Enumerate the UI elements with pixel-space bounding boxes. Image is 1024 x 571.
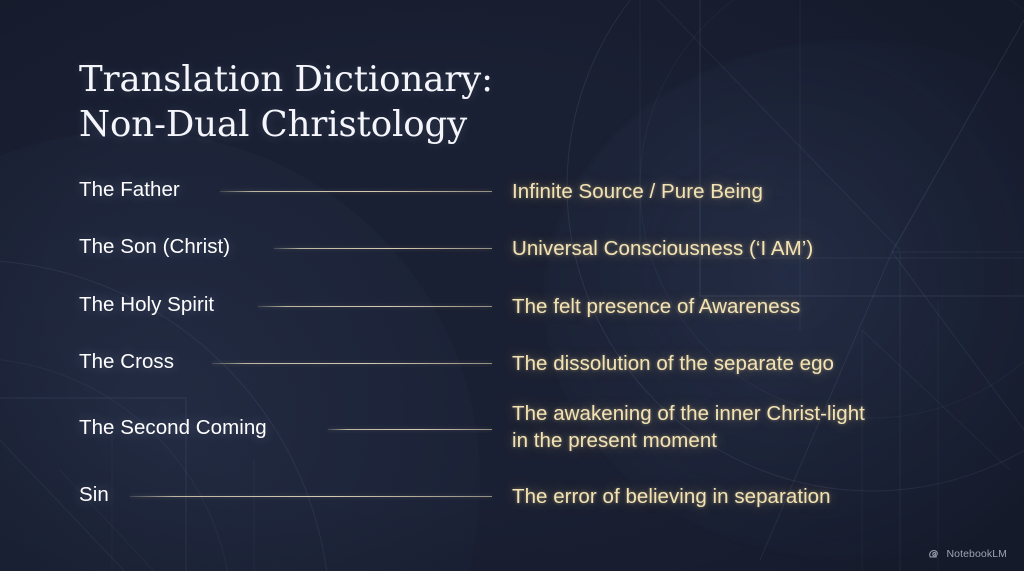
connector-line [212, 363, 492, 364]
term-label: The Second Coming [79, 416, 267, 440]
term-label: The Holy Spirit [79, 293, 214, 317]
term-label: The Cross [79, 350, 174, 374]
connector-line [130, 496, 492, 497]
notebooklm-logo-icon [928, 547, 941, 560]
term-label: Sin [79, 483, 109, 507]
meaning-label: Universal Consciousness (‘I AM’) [512, 235, 813, 262]
notebooklm-watermark: NotebookLM [928, 547, 1007, 560]
meaning-label: The error of believing in separation [512, 483, 831, 510]
meaning-label: The dissolution of the separate ego [512, 350, 834, 377]
term-label: The Father [79, 178, 180, 202]
dictionary-list: The Father Infinite Source / Pure Being … [0, 0, 1024, 571]
slide-canvas: Translation Dictionary: Non-Dual Christo… [0, 0, 1024, 571]
meaning-label: Infinite Source / Pure Being [512, 178, 763, 205]
meaning-label: The felt presence of Awareness [512, 293, 800, 320]
connector-line [220, 191, 492, 192]
connector-line [328, 429, 492, 430]
connector-line [274, 248, 492, 249]
meaning-label: The awakening of the inner Christ-light … [512, 400, 865, 455]
connector-line [258, 306, 492, 307]
notebooklm-watermark-label: NotebookLM [946, 548, 1007, 560]
term-label: The Son (Christ) [79, 235, 230, 259]
